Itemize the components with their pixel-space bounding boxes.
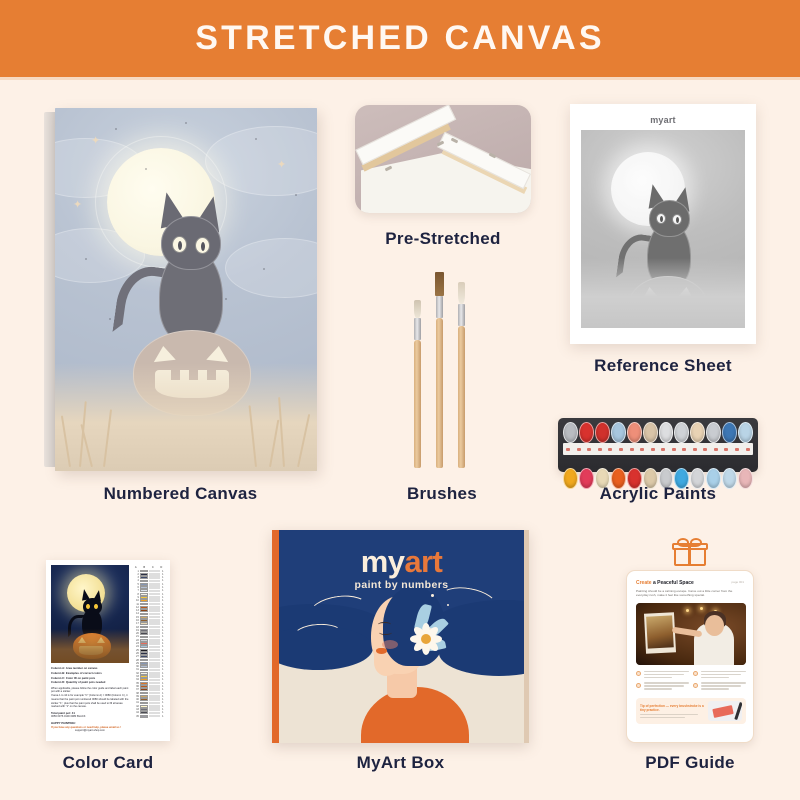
girl-eyebrow: [378, 622, 391, 627]
easel: [644, 612, 676, 654]
legend-note-1: When applicable, please follow the color…: [51, 687, 129, 695]
paint-code-tick: [630, 448, 634, 451]
pdf-tip-callout: Tip of perfection — every brushstroke is…: [636, 698, 746, 724]
paint-code-tick: [703, 448, 707, 451]
numbered-canvas: ✦ ✦ ✦: [44, 108, 317, 471]
caption-acrylic-paints: Acrylic Paints: [558, 484, 758, 504]
pdf-subtitle: Painting should be a calming escape. Car…: [636, 589, 744, 598]
logo-my: my: [361, 544, 405, 579]
paint-pot: [674, 422, 689, 443]
paint-pot: [563, 422, 578, 443]
paint-code-tick: [566, 448, 570, 451]
pdf-guide: page 001 Create a Peaceful Space Paintin…: [620, 538, 760, 743]
pdf-bullet: [636, 671, 689, 680]
reference-sheet: myart: [570, 104, 756, 344]
paint-pot: [706, 422, 721, 443]
caption-brushes: Brushes: [380, 484, 504, 504]
cat-head: [161, 216, 221, 270]
caption-myart-box: MyArt Box: [272, 753, 529, 773]
pre-stretched-photo: [355, 105, 531, 213]
legend-line-a: Column A: Area number on canvas: [51, 666, 97, 670]
legend-note-2: If area 1 to 44 is for example "C" (Colu…: [51, 694, 129, 709]
tip-thumbnail: [708, 701, 742, 721]
paint-pot: [595, 422, 610, 443]
bullet-dot: [636, 671, 641, 676]
box-edge-left: [272, 530, 279, 743]
daisy-flower: [409, 622, 443, 656]
page-header: STRETCHED CANVAS: [0, 0, 800, 77]
tip-heading: Tip of perfection — every brushstroke is…: [640, 704, 704, 712]
brush-small: [414, 300, 421, 468]
reference-sheet-logo: myart: [581, 115, 745, 125]
paint-pot: [579, 422, 594, 443]
total-paint-codes: 0056 0076 0100 0080 BLACK: [51, 715, 129, 719]
paint-code-tick: [714, 448, 718, 451]
paint-code-tick: [693, 448, 697, 451]
cat-pupil: [201, 242, 205, 251]
girl-eye: [379, 630, 392, 635]
myart-logo: myart: [279, 544, 524, 580]
color-card-artwork: [51, 565, 129, 663]
acrylic-paints-tray: [558, 418, 758, 472]
pdf-heading-rest: a Peaceful Space: [652, 580, 694, 586]
paint-code-tick: [640, 448, 644, 451]
paint-pot: [643, 422, 658, 443]
box-front-panel: myart paint by numbers: [279, 530, 524, 743]
pdf-bullet: [693, 671, 746, 680]
canvas-artwork: ✦ ✦ ✦: [55, 108, 317, 471]
sparkle-dot: [447, 604, 449, 606]
color-card-legend: Column A: Area number on canvas Column B…: [51, 663, 129, 733]
paint-pot: [690, 422, 705, 443]
box-edge-right: [524, 530, 529, 743]
daisy-center: [421, 634, 431, 644]
bullet-dot: [636, 683, 641, 688]
pumpkin-eye-left: [152, 345, 175, 362]
paint-code-tick: [746, 448, 750, 451]
logo-art: art: [404, 544, 442, 579]
cat-eye-left: [172, 236, 187, 253]
color-card-row: 451: [132, 714, 165, 717]
cat-eye-right: [195, 237, 210, 254]
legend-line-c: Column C: Color ID on paint pots: [51, 676, 95, 680]
paint-code-tick: [608, 448, 612, 451]
caption-pre-stretched: Pre-Stretched: [355, 229, 531, 249]
grass-foreground: [55, 363, 317, 471]
girl-lips: [376, 648, 387, 654]
bullet-dot: [693, 683, 698, 688]
caption-reference-sheet: Reference Sheet: [570, 356, 756, 376]
paint-code-tick: [619, 448, 623, 451]
sparkle-dot: [429, 628, 431, 630]
legend-line-d: Column D: Quantity of paint pots needed: [51, 680, 105, 684]
pumpkin-eye-right: [206, 345, 229, 362]
caption-color-card: Color Card: [28, 753, 188, 773]
paint-pot: [659, 422, 674, 443]
happy-painting: HAPPY PAINTING!: [51, 721, 75, 725]
pdf-heading: page 001 Create a Peaceful Space: [636, 580, 744, 586]
gift-icon: [674, 538, 706, 566]
paint-pot: [611, 422, 626, 443]
paint-pot: [722, 422, 737, 443]
color-card-left: Column A: Area number on canvas Column B…: [51, 565, 129, 736]
brush-flat: [436, 272, 443, 468]
paint-row-top: [563, 422, 753, 443]
pdf-page-number: page 001: [731, 580, 744, 584]
pdf-bullet-grid: [636, 671, 746, 691]
brush-round: [458, 282, 465, 468]
paint-code-tick: [682, 448, 686, 451]
pdf-bullet: [693, 682, 746, 691]
support-email: support@myart-shop.com: [51, 729, 129, 733]
reference-sheet-artwork: [581, 130, 745, 328]
paint-pot: [738, 422, 753, 443]
paint-code-tick: [735, 448, 739, 451]
color-card: Column A: Area number on canvas Column B…: [46, 560, 170, 741]
cat-pupil: [178, 241, 182, 250]
bullet-dot: [693, 671, 698, 676]
pdf-guide-page: page 001 Create a Peaceful Space Paintin…: [626, 570, 754, 743]
paint-code-tick: [598, 448, 602, 451]
sparkle-dot: [431, 594, 434, 597]
legend-line-b: Column B: Examples of correct colors: [51, 671, 102, 675]
paint-label-strip: [563, 443, 753, 455]
pdf-bullet: [636, 682, 689, 691]
box-tagline: paint by numbers: [279, 579, 524, 591]
paint-code-tick: [661, 448, 665, 451]
paint-code-tick: [651, 448, 655, 451]
caption-numbered-canvas: Numbered Canvas: [44, 484, 317, 504]
pdf-heading-accent: Create: [636, 580, 652, 586]
paint-code-tick: [587, 448, 591, 451]
paint-pot: [627, 422, 642, 443]
page-title: STRETCHED CANVAS: [195, 19, 604, 58]
color-card-table: A B C D 11213141516171819110111112113114…: [132, 565, 165, 736]
pdf-photo: [636, 603, 746, 665]
product-infographic: STRETCHED CANVAS: [0, 0, 800, 800]
paint-code-tick: [724, 448, 728, 451]
brushes: [406, 268, 478, 468]
paint-code-tick: [672, 448, 676, 451]
caption-pdf-guide: PDF Guide: [620, 753, 760, 773]
paint-code-tick: [577, 448, 581, 451]
myart-box: myart paint by numbers: [272, 530, 529, 743]
header-divider: [0, 77, 800, 80]
